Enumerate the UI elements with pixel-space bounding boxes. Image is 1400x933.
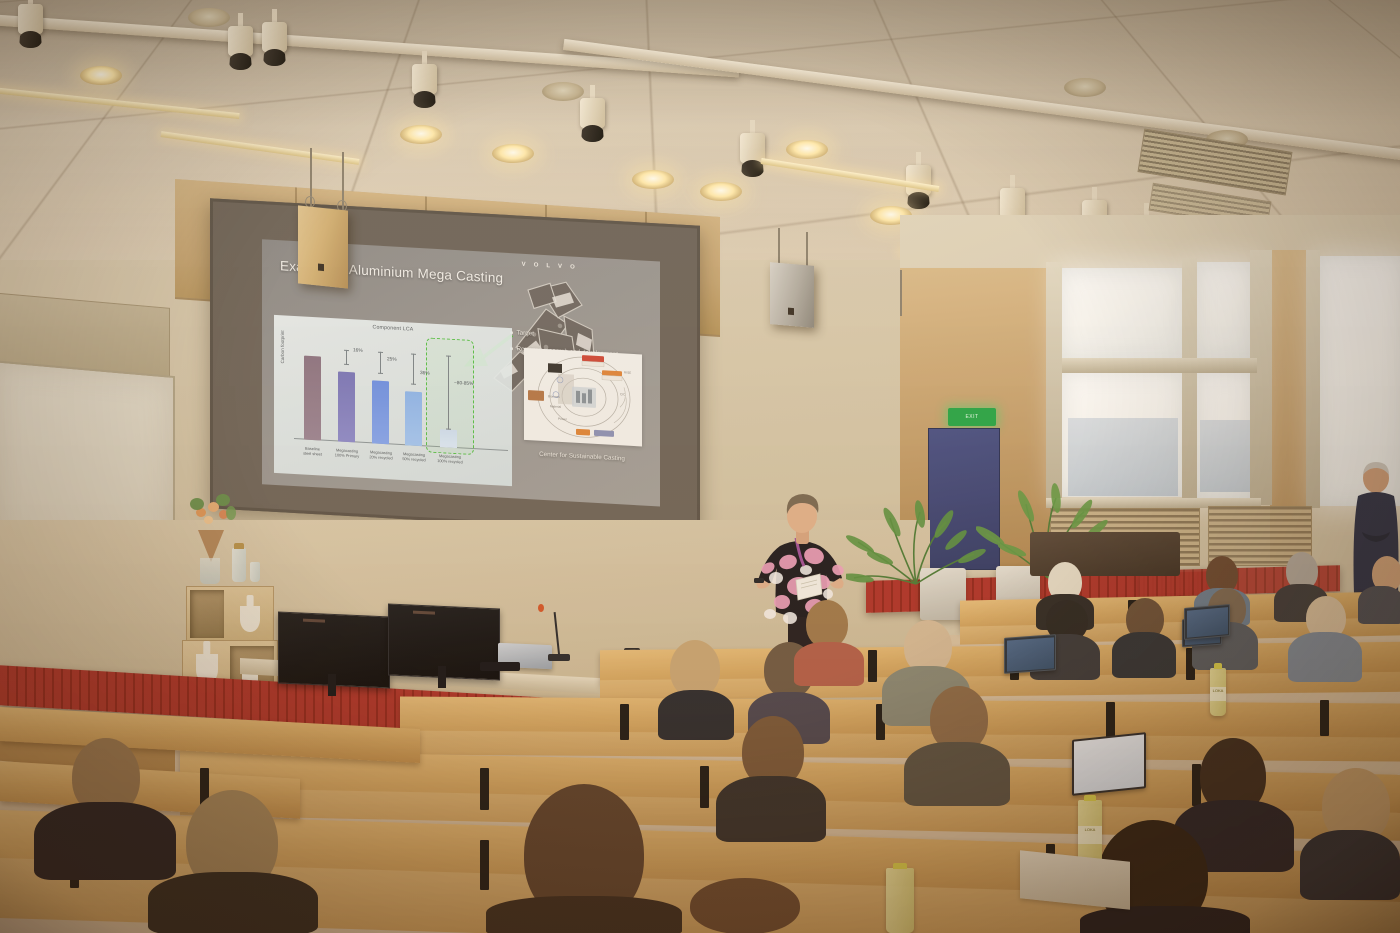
projector-mount-cable — [900, 270, 902, 316]
chart-category-label: Megacasting 100% recycled — [424, 452, 476, 466]
podium-equipment-box — [480, 662, 520, 671]
microphone-head — [538, 604, 544, 612]
chart-reduction-label-4: ~80-85% — [454, 381, 473, 387]
tablet-screen — [1074, 734, 1144, 793]
window-mullion-vertical — [1250, 250, 1272, 505]
sustainable-casting-circular-diagram: Biomass Material Power CIC RISE — [524, 348, 642, 447]
drinking-glass — [250, 562, 260, 582]
attendee-laptop[interactable] — [1004, 634, 1056, 674]
institution-logo-mark — [240, 606, 260, 632]
chart-reduction-arrow — [413, 354, 414, 385]
flower-vase — [200, 558, 220, 584]
attendee-torso — [1300, 830, 1400, 900]
svg-text:Power: Power — [558, 417, 567, 421]
exit-sign-label: EXIT — [965, 414, 978, 420]
window-mullion-horizontal — [1052, 358, 1257, 373]
chart-reduction-arrow — [346, 350, 347, 365]
recessed-downlight — [700, 182, 742, 201]
component-lca-chart: Component LCA Carbon footprint 16% 25% 3… — [274, 315, 512, 486]
building-outside-window — [1200, 420, 1252, 492]
chart-bar-megacasting-20 — [372, 380, 389, 444]
window-mullion-vertical — [1182, 258, 1197, 503]
window-pane-upper-left — [1060, 268, 1185, 360]
svg-text:RISE: RISE — [624, 370, 631, 374]
attendee-torso — [486, 896, 682, 933]
seat-divider — [1320, 700, 1329, 736]
circular-diagram-caption: Center for Sustainable Casting — [512, 449, 652, 464]
attendee-torso — [904, 742, 1010, 806]
recessed-downlight — [632, 170, 674, 189]
track-spotlight — [740, 133, 765, 179]
attendee-head — [806, 600, 848, 648]
seat-divider — [480, 840, 489, 890]
chart-bar-baseline — [304, 356, 321, 441]
monitor-stand — [438, 666, 446, 688]
laptop-screen — [1007, 637, 1054, 671]
attendee-tablet[interactable] — [1072, 732, 1146, 796]
attendee-laptop[interactable] — [1184, 604, 1230, 640]
carafe-cork — [234, 543, 244, 549]
recessed-downlight — [1064, 78, 1106, 97]
flower-foliage — [190, 498, 204, 510]
chart-reduction-label-2: 25% — [387, 357, 397, 363]
seat-divider — [868, 650, 877, 682]
seat-divider — [1106, 702, 1115, 738]
attendee-torso — [1080, 906, 1250, 933]
svg-text:Material: Material — [550, 404, 561, 409]
microphone-base — [548, 654, 570, 661]
decor-shelf-recess — [190, 590, 224, 638]
track-spotlight — [580, 98, 605, 144]
seat-divider — [700, 766, 709, 808]
water-bottle: LOKA — [1210, 668, 1226, 716]
chart-bar-megacasting-100 — [440, 429, 457, 448]
seat-divider — [620, 704, 629, 740]
lecture-hall-photo: EXIT V O L V O — [0, 0, 1400, 933]
bottle-label: LOKA — [1210, 687, 1226, 700]
monitor-brand-badge — [413, 611, 435, 615]
flower-foliage — [226, 506, 236, 520]
track-spotlight — [228, 26, 253, 72]
ceiling-speaker-left — [298, 205, 348, 288]
track-spotlight — [262, 22, 287, 68]
window-pane-upper-right — [1196, 262, 1254, 360]
recessed-downlight — [492, 144, 534, 163]
attendee-torso — [658, 690, 734, 740]
flower-foliage — [216, 494, 230, 506]
recessed-downlight — [786, 140, 828, 159]
water-carafe — [232, 548, 246, 582]
track-spotlight — [412, 64, 437, 110]
attendee-torso — [794, 642, 864, 686]
track-spotlight — [18, 4, 43, 50]
recessed-downlight — [80, 66, 122, 85]
water-bottle: LOKA — [1078, 800, 1102, 864]
monitor-brand-badge — [303, 619, 325, 623]
emergency-exit-sign: EXIT — [948, 408, 996, 426]
attendee-torso — [148, 872, 318, 933]
monitor-stand — [328, 674, 336, 696]
chart-reduction-label-3: 36% — [420, 371, 430, 377]
chart-bar-megacasting-primary — [338, 371, 355, 442]
laptop-screen — [1187, 607, 1228, 638]
recessed-downlight — [188, 8, 230, 27]
projection-screen: V O L V O — [210, 198, 700, 535]
bottle-label: LOKA — [1078, 826, 1102, 844]
chart-reduction-arrow — [448, 356, 449, 430]
bottle-cap — [893, 863, 906, 869]
recessed-downlight — [400, 125, 442, 144]
chart-reduction-label-1: 16% — [353, 348, 363, 354]
bottle-cap — [1084, 795, 1096, 801]
recessed-downlight — [542, 82, 584, 101]
chart-reduction-arrow — [380, 352, 381, 374]
attendee-torso — [716, 776, 826, 842]
seat-divider — [480, 768, 489, 810]
window-mullion-vertical — [1306, 250, 1320, 508]
flower — [204, 516, 213, 524]
ceiling-speaker-right — [770, 262, 814, 328]
palm-plant-left — [846, 466, 986, 586]
attendee-torso — [1288, 632, 1362, 682]
chart-y-axis-label: Carbon footprint — [280, 330, 285, 363]
attendee-torso — [1358, 586, 1400, 624]
bottle-cap — [1214, 663, 1222, 669]
water-bottle — [886, 868, 914, 933]
attendee-torso — [1112, 632, 1176, 678]
chart-bar-megacasting-50 — [405, 391, 422, 446]
attendee-head — [690, 878, 800, 933]
attendee-torso — [34, 802, 176, 880]
